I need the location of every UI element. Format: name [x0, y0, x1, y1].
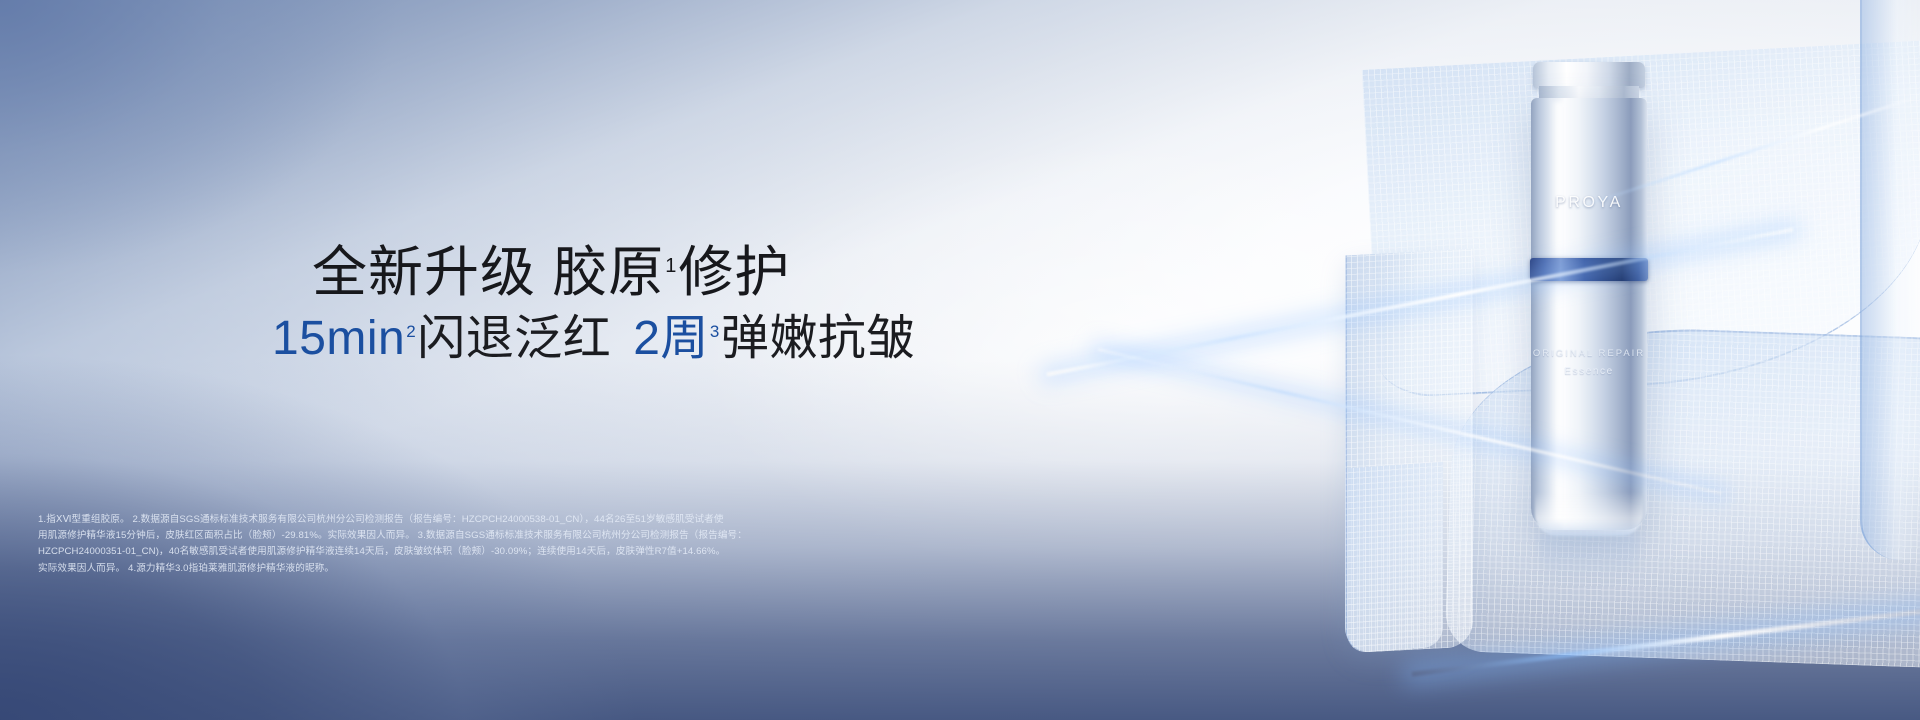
footnote-line: 1.指ⅩⅥ型重组胶原。 2.数据源自SGS通标标准技术服务有限公司杭州分公司检测… — [38, 512, 828, 528]
subheadline-footnote-marker-2: 2 — [406, 322, 416, 341]
subheadline: 15min2闪退泛红2周3弹嫩抗皱 — [272, 313, 915, 366]
footnote-line: HZCPCH24000351-01_CN)，40名敏感肌受试者使用肌源修护精华液… — [38, 544, 828, 560]
headline-part-2: 修护 — [678, 241, 790, 303]
subheadline-text-1: 闪退泛红 — [417, 312, 611, 365]
copy-block: 全新升级 胶原1修护 15min2闪退泛红2周3弹嫩抗皱 1.指ⅩⅥ型重组胶原。… — [0, 0, 1920, 720]
subheadline-accent-1: 15min — [272, 312, 405, 365]
footnote-line: 用肌源修护精华液15分钟后，皮肤红区面积占比（脸颊）-29.81%。实际效果因人… — [38, 528, 828, 544]
banner-stage: PROYA ORIGINAL REPAIR Essence 全新升级 胶原1修护… — [0, 0, 1920, 720]
headline: 全新升级 胶原1修护 — [312, 243, 790, 302]
subheadline-text-2: 弹嫩抗皱 — [721, 312, 915, 365]
subheadline-accent-2: 2周 — [633, 312, 709, 365]
headline-part-1: 全新升级 胶原 — [312, 241, 664, 303]
footnotes: 1.指ⅩⅥ型重组胶原。 2.数据源自SGS通标标准技术服务有限公司杭州分公司检测… — [38, 512, 828, 577]
subheadline-footnote-marker-3: 3 — [710, 322, 720, 341]
footnote-line: 实际效果因人而异。 4.源力精华3.0指珀莱雅肌源修护精华液的昵称。 — [38, 561, 828, 577]
headline-footnote-marker-1: 1 — [665, 255, 677, 277]
